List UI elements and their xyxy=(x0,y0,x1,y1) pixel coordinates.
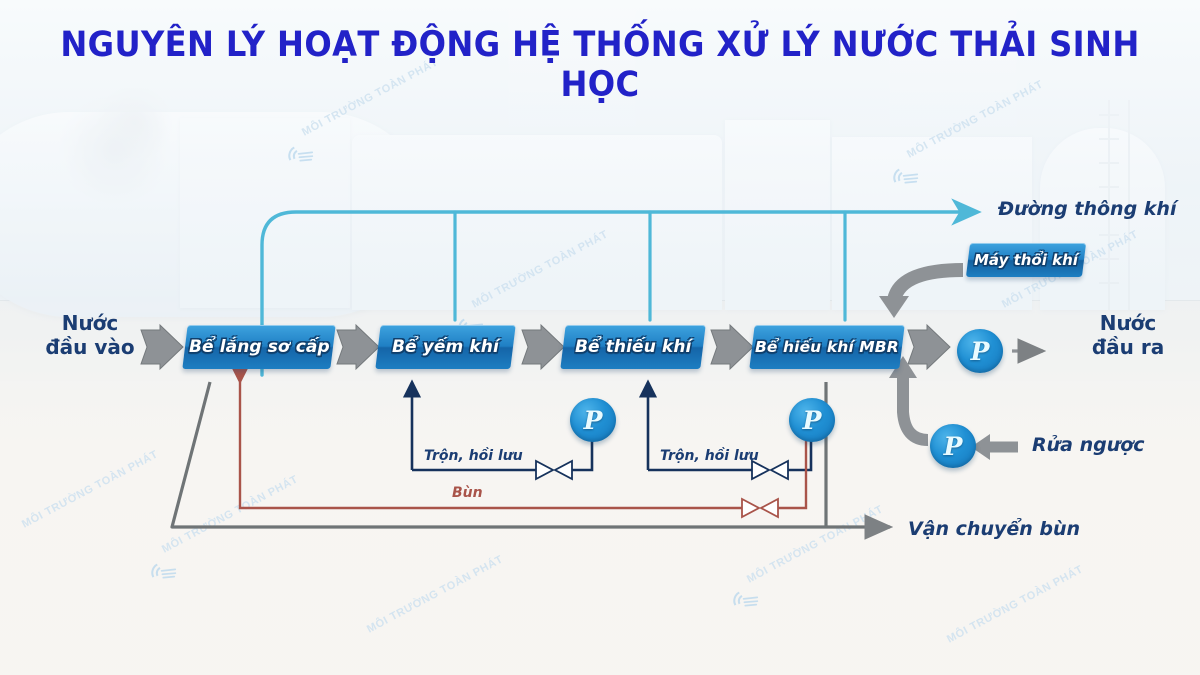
blower-box[interactable]: Máy thổi khí xyxy=(966,243,1086,277)
pump-label: P xyxy=(944,434,963,459)
sludge-label: Bùn xyxy=(452,485,483,501)
pump-anoxic-recirc[interactable]: P xyxy=(570,398,616,442)
sludge-transport-label: Vận chuyển bùn xyxy=(908,518,1080,540)
flow-arrow-3 xyxy=(711,325,753,369)
flow-arrow-2 xyxy=(522,325,564,369)
blower-label: Máy thổi khí xyxy=(974,251,1078,269)
stage-box-anaerobic[interactable]: Bể yếm khí xyxy=(375,325,515,369)
flow-arrow-inlet xyxy=(141,325,183,369)
valve-recirc-1 xyxy=(536,461,572,479)
stage-label: Bể lắng sơ cấp xyxy=(189,337,330,357)
stage-box-anoxic[interactable]: Bể thiếu khí xyxy=(560,325,705,369)
pump-label: P xyxy=(803,408,822,433)
flow-arrow-4 xyxy=(908,325,950,369)
stage-label: Bể yếm khí xyxy=(392,337,499,357)
stage-label: Bể hiếu khí MBR xyxy=(755,338,899,356)
stage-label: Bể thiếu khí xyxy=(575,337,691,357)
stage-box-aerobic-mbr[interactable]: Bể hiếu khí MBR xyxy=(749,325,904,369)
inlet-label-line1: Nước xyxy=(42,311,138,335)
backwash-arrow-shaft xyxy=(903,372,928,440)
pump-outlet[interactable]: P xyxy=(957,329,1003,373)
inlet-label-line2: đầu vào xyxy=(42,335,138,359)
stage-box-primary-settling[interactable]: Bể lắng sơ cấp xyxy=(182,325,335,369)
flow-arrow-1 xyxy=(337,325,379,369)
backwash-label: Rửa ngược xyxy=(1032,434,1145,456)
blower-feed-arrow-shaft xyxy=(894,270,963,300)
outlet-label: Nước đầu ra xyxy=(1076,311,1180,359)
pump-label: P xyxy=(971,339,990,364)
sludge-return-line xyxy=(240,382,806,508)
valve-sludge xyxy=(742,499,778,517)
air-line-label: Đường thông khí xyxy=(998,198,1176,220)
inlet-label: Nước đầu vào xyxy=(42,311,138,359)
pump-mbr-recirc[interactable]: P xyxy=(789,398,835,442)
diagram-canvas: MÔI TRƯỜNG TOÀN PHÁT MÔI TRƯỜNG TOÀN PHÁ… xyxy=(0,0,1200,675)
sludge-transport-line xyxy=(172,382,890,527)
mix-recirc-label-2: Trộn, hồi lưu xyxy=(660,448,759,464)
blower-feed-arrow-head xyxy=(879,296,909,318)
pump-label: P xyxy=(584,408,603,433)
mix-recirc-label-1: Trộn, hồi lưu xyxy=(424,448,523,464)
pump-backwash[interactable]: P xyxy=(930,424,976,468)
outlet-label-line1: Nước xyxy=(1076,311,1180,335)
outlet-label-line2: đầu ra xyxy=(1076,335,1180,359)
